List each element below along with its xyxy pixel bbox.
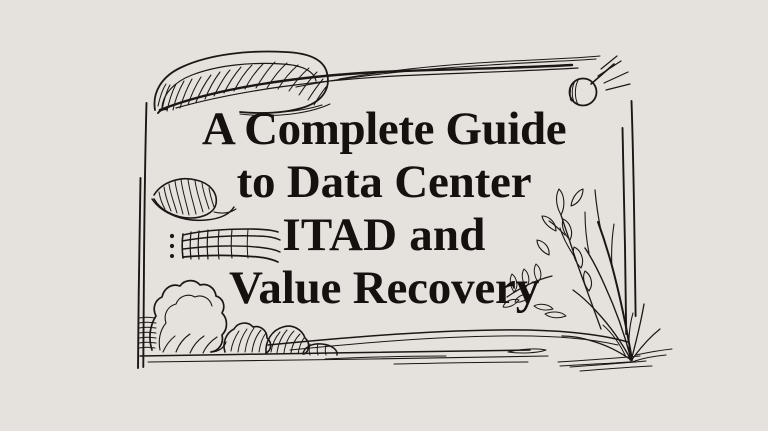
pebble-stone bbox=[303, 344, 337, 356]
title-line-1: A Complete Guide bbox=[0, 103, 768, 156]
title-card: A Complete Guide to Data Center ITAD and… bbox=[0, 0, 768, 431]
sketch-frame-bottom-ground bbox=[140, 330, 646, 367]
title-line-2: to Data Center bbox=[0, 156, 768, 209]
page-title: A Complete Guide to Data Center ITAD and… bbox=[0, 103, 768, 315]
comet-shooting-star bbox=[570, 56, 631, 106]
title-line-4: Value Recovery bbox=[0, 262, 768, 315]
title-line-3: ITAD and bbox=[0, 209, 768, 262]
